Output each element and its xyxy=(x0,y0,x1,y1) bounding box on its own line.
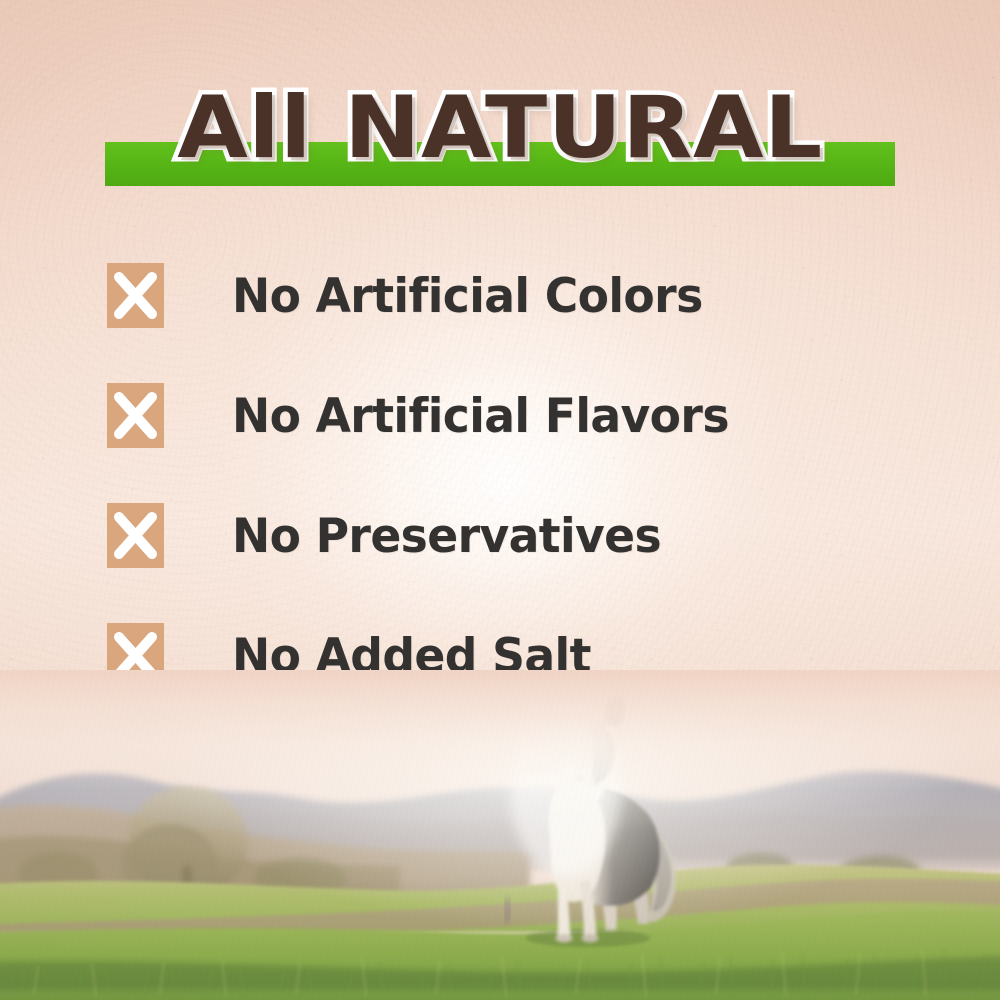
landscape-photo xyxy=(0,670,1000,1000)
poster-canvas: All NATURAL No Artificial Colors xyxy=(0,0,1000,1000)
x-mark-icon xyxy=(107,263,164,328)
list-item: No Preservatives xyxy=(107,492,967,612)
x-mark-icon xyxy=(107,503,164,568)
x-mark-icon xyxy=(107,383,164,448)
list-item: No Artificial Flavors xyxy=(107,372,967,492)
page-title: All NATURAL xyxy=(0,72,1000,184)
list-item-label: No Preservatives xyxy=(232,492,661,580)
headline-block: All NATURAL xyxy=(0,72,1000,192)
feature-list: No Artificial Colors No Artificial Flavo… xyxy=(107,252,967,732)
list-item-label: No Artificial Colors xyxy=(232,252,703,340)
list-item: No Artificial Colors xyxy=(107,252,967,372)
list-item-label: No Artificial Flavors xyxy=(232,372,729,460)
